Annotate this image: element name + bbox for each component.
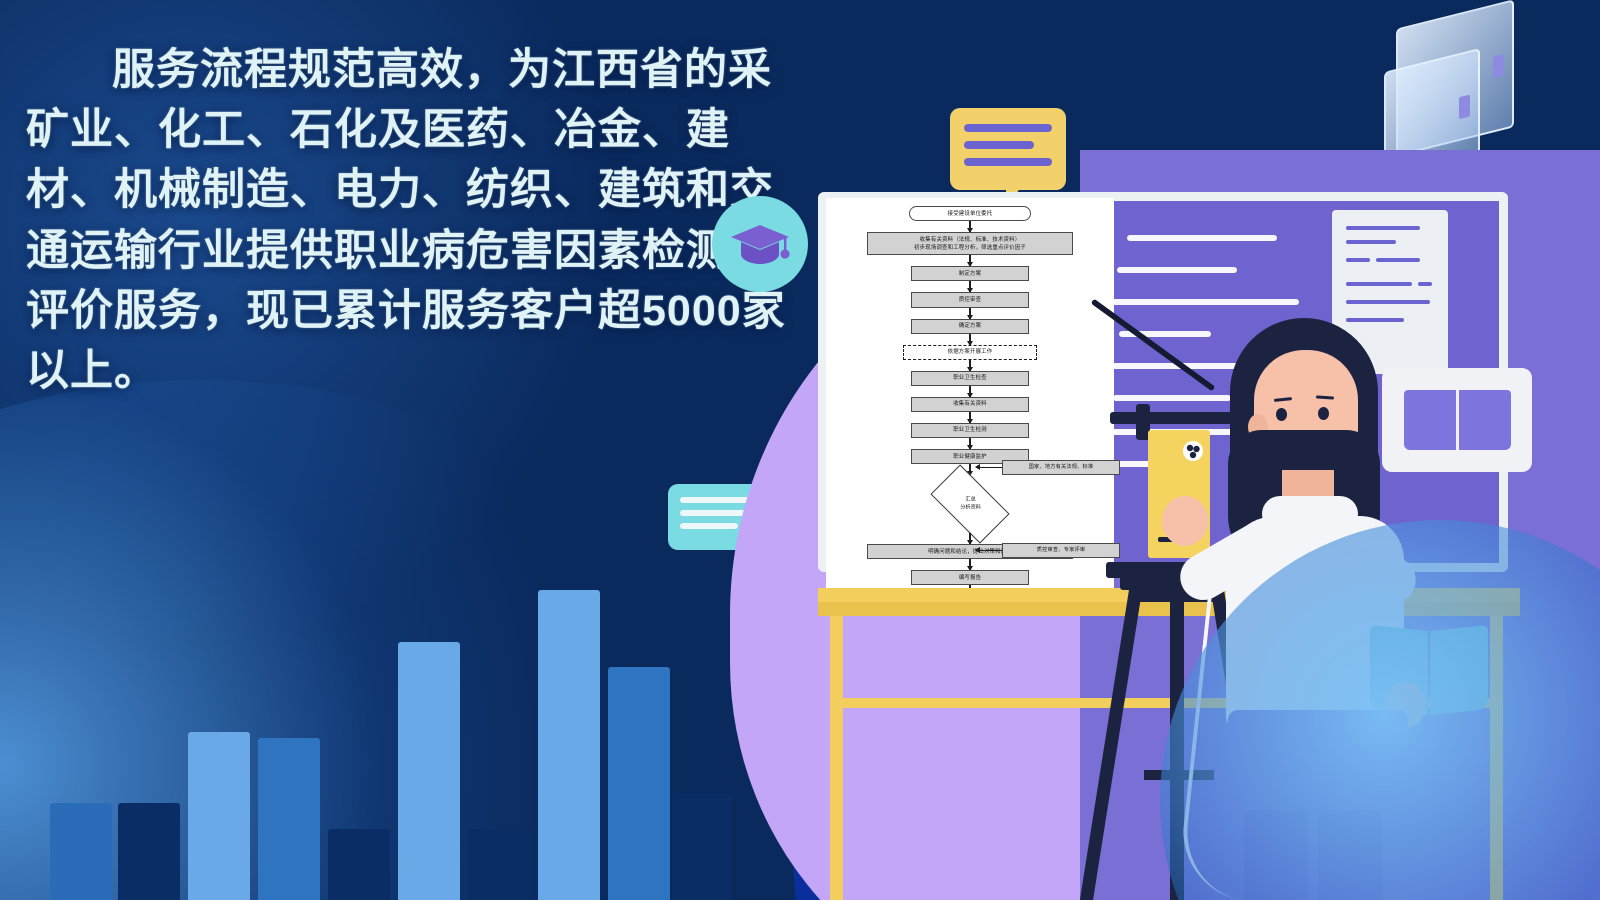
- bar-8: [538, 590, 600, 900]
- bubble-line: [964, 124, 1052, 132]
- flow-node-n6: 依据方案开展工作: [903, 345, 1037, 360]
- flow-node-n3: 制定方案: [911, 266, 1029, 281]
- flow-node-n4: 质控审查: [911, 292, 1029, 307]
- bar-3: [188, 732, 250, 900]
- background-bar-chart: [0, 480, 700, 900]
- flow-node-n13: 编写报告: [911, 570, 1029, 585]
- flow-arrow: [969, 334, 970, 345]
- bubble-line: [964, 141, 1034, 149]
- book-page-left: [1404, 390, 1456, 450]
- flow-node-n8: 收集有关资料: [911, 397, 1029, 412]
- bar-5: [328, 829, 390, 900]
- flow-arrow: [969, 412, 970, 423]
- bar-2: [118, 803, 180, 900]
- flow-arrow: [969, 308, 970, 319]
- flow-arrow: [969, 533, 970, 544]
- flowchart-whiteboard: 接受建设单位委托收集有关资料（法规、标准、技术资料）初步现场调查和工程分析，筛选…: [826, 198, 1114, 588]
- flow-node-n11: 汇总分析资料: [930, 465, 1009, 544]
- bar-7: [468, 829, 530, 900]
- flow-arrow: [969, 281, 970, 292]
- flow-node-n5: 确定方案: [911, 319, 1029, 334]
- flow-node-n9: 职业卫生检测: [911, 423, 1029, 438]
- flow-arrow: [969, 360, 970, 371]
- bar-6: [398, 642, 460, 900]
- flow-arrow: [969, 438, 970, 449]
- flow-arrow: [969, 221, 970, 232]
- bar-4: [258, 738, 320, 900]
- open-book-icon: [1382, 368, 1532, 472]
- flow-node-n2: 收集有关资料（法规、标准、技术资料）初步现场调查和工程分析，筛选重点评价因子: [867, 232, 1073, 255]
- book-spine: [1493, 53, 1504, 78]
- bar-1: [50, 803, 112, 900]
- page-title: 服务流程规范高效，为江西省的采矿业、化工、石化及医药、冶金、建材、机械制造、电力…: [26, 40, 786, 401]
- bar-9: [608, 667, 670, 900]
- flow-node-n1: 接受建设单位委托: [909, 206, 1031, 221]
- book-spine: [1459, 94, 1470, 119]
- book-page-right: [1459, 390, 1511, 450]
- hand-left: [1162, 496, 1208, 546]
- flow-arrow: [969, 386, 970, 397]
- flow-arrow: [969, 255, 970, 266]
- flow-connector: [976, 467, 1002, 468]
- flow-node-n7: 职业卫生检查: [911, 371, 1029, 386]
- flow-connector: [976, 550, 1002, 551]
- headline-paragraph: 服务流程规范高效，为江西省的采矿业、化工、石化及医药、冶金、建材、机械制造、电力…: [26, 40, 786, 401]
- flow-node-label: 汇总分析资料: [960, 497, 981, 512]
- poster-canvas: 服务流程规范高效，为江西省的采矿业、化工、石化及医药、冶金、建材、机械制造、电力…: [0, 0, 1600, 900]
- flow-arrow: [969, 559, 970, 570]
